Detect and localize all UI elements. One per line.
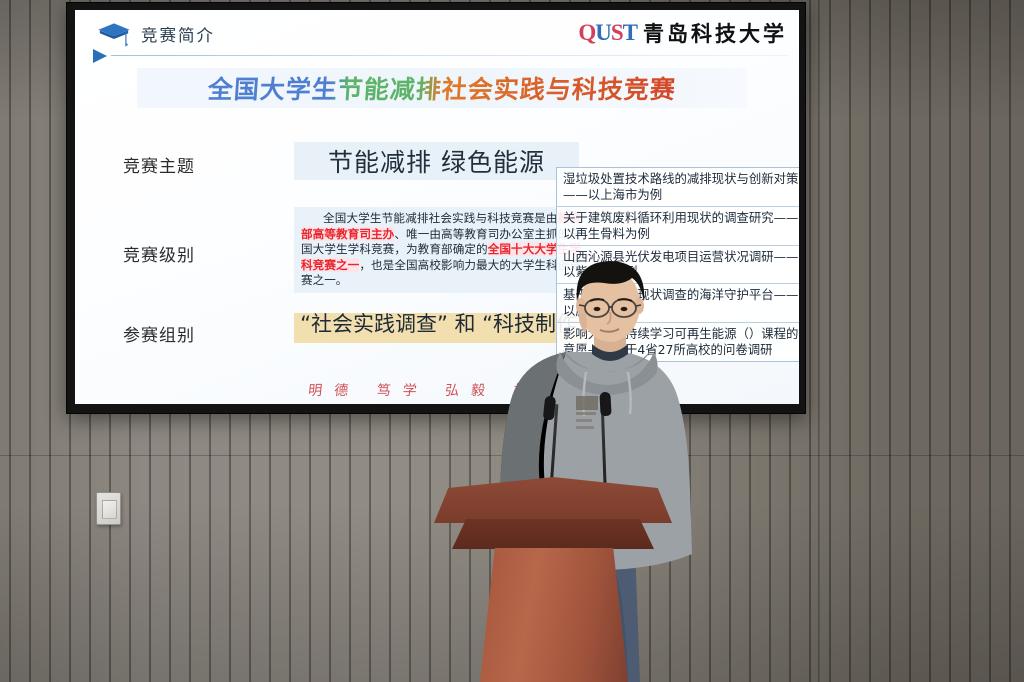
list-item: 湿垃圾处置技术路线的减排现状与创新对策——以上海市为例: [557, 168, 799, 207]
triangle-right-icon: [93, 49, 107, 63]
row-label-group: 参赛组别: [123, 321, 195, 346]
list-item: 山西沁源县光伏发电项目运营状况调研——以紫红村为例: [557, 246, 799, 285]
group-value: “社会实践调查” 和 “科技制作”: [294, 311, 594, 339]
theme-value-box: 节能减排 绿色能源: [294, 142, 579, 180]
presentation-slide: 竞赛简介 QUST 青岛科技大学 全国大学生节能减排社会实践与科技竞赛 竞赛主题…: [75, 10, 799, 404]
list-item: 影响大学生持续学习可再生能源（）课程的意愿——基于4省27所高校的问卷调研: [557, 323, 799, 361]
list-item: 关于建筑废料循环利用现状的调查研究——以再生骨料为例: [557, 207, 799, 246]
row-label-level: 竞赛级别: [123, 241, 195, 266]
university-name: 青岛科技大学: [643, 18, 787, 48]
theme-value: 节能减排 绿色能源: [328, 143, 545, 179]
level-value-box: 全国大学生节能减排社会实践与科技竞赛是由教育部高等教育司主办、唯一由高等教育司办…: [294, 207, 587, 293]
slide-title-band: 全国大学生节能减排社会实践与科技竞赛: [137, 68, 747, 108]
display-screen-bezel: 竞赛简介 QUST 青岛科技大学 全国大学生节能减排社会实践与科技竞赛 竞赛主题…: [66, 2, 806, 414]
podium-body: [480, 548, 628, 682]
light-switch-rocker[interactable]: [102, 500, 117, 519]
wall-vertical-seam: [818, 0, 821, 682]
row-label-theme: 竞赛主题: [123, 152, 195, 177]
level-paragraph: 全国大学生节能减排社会实践与科技竞赛是由教育部高等教育司主办、唯一由高等教育司办…: [301, 211, 581, 289]
qust-logotype: QUST: [578, 20, 637, 46]
podium-trim-band: [452, 519, 654, 549]
slide-kicker: 竞赛简介: [141, 22, 215, 46]
wall-horizontal-seam: [0, 455, 1024, 456]
university-motto: 明德 笃学 弘毅 拓新: [75, 380, 799, 400]
level-part1: 全国大学生节能减排社会实践与科技竞赛是由: [323, 211, 558, 225]
university-logo: QUST 青岛科技大学: [578, 18, 787, 48]
topic-list: 湿垃圾处置技术路线的减排现状与创新对策——以上海市为例 关于建筑废料循环利用现状…: [556, 167, 799, 362]
graduation-cap-icon: [97, 21, 131, 47]
microphone-head-right: [599, 392, 611, 417]
slide-header: 竞赛简介 QUST 青岛科技大学: [75, 10, 799, 58]
light-switch-plate[interactable]: [96, 492, 121, 525]
slide-title-text: 全国大学生节能减排社会实践与科技竞赛: [207, 70, 678, 106]
list-item: 基于海洋垃圾现状调查的海洋守护平台——以厦门市为例: [557, 284, 799, 323]
lecture-hall-scene: 竞赛简介 QUST 青岛科技大学 全国大学生节能减排社会实践与科技竞赛 竞赛主题…: [0, 0, 1024, 682]
header-divider: [111, 55, 789, 56]
